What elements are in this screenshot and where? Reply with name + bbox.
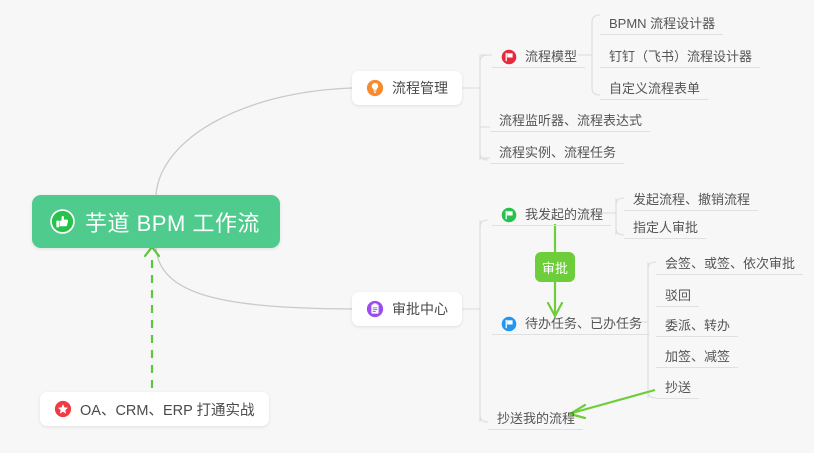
node-label: 发起流程、撤销流程 — [633, 189, 750, 208]
bracket-model-corner-bottom — [592, 88, 600, 95]
flag-icon-green — [501, 207, 517, 223]
branch-process-management[interactable]: 流程管理 — [352, 71, 462, 105]
node-label: 加签、减签 — [665, 346, 730, 365]
mindmap-canvas: 芋道 BPM 工作流 流程管理 流程模型 BPMN 流程设计器 钉钉（飞书）流程 — [0, 0, 814, 453]
node-start-cancel[interactable]: 发起流程、撤销流程 — [624, 185, 758, 211]
node-cc-to-me[interactable]: 抄送我的流程 — [488, 404, 583, 430]
node-my-initiated[interactable]: 我发起的流程 — [492, 200, 611, 226]
approval-badge[interactable]: 审批 — [535, 252, 575, 282]
star-icon — [54, 400, 72, 418]
node-label: 待办任务、已办任务 — [525, 313, 642, 332]
node-label: 流程监听器、流程表达式 — [499, 110, 642, 129]
node-dingtalk-feishu-designer[interactable]: 钉钉（飞书）流程设计器 — [600, 42, 760, 68]
link-root-to-process-management — [156, 88, 352, 195]
bracket-pm-corner-bottom — [480, 153, 488, 160]
node-label: 流程实例、流程任务 — [499, 142, 616, 161]
node-assignee-approval[interactable]: 指定人审批 — [624, 213, 706, 239]
bracket-pm-corner-top — [480, 55, 488, 62]
node-listener-expression[interactable]: 流程监听器、流程表达式 — [490, 106, 650, 132]
link-root-to-approval-center — [156, 248, 352, 309]
flag-icon-blue — [501, 316, 517, 332]
node-add-remove-sign[interactable]: 加签、减签 — [656, 342, 738, 368]
clipboard-icon — [366, 300, 384, 318]
node-process-model[interactable]: 流程模型 — [492, 42, 585, 68]
node-label: 委派、转办 — [665, 315, 730, 334]
branch-approval-center[interactable]: 审批中心 — [352, 292, 462, 326]
approval-badge-label: 审批 — [542, 258, 568, 277]
bracket-init-corner-bottom — [616, 228, 624, 235]
thumbs-up-icon — [50, 209, 75, 234]
root-label: 芋道 BPM 工作流 — [85, 206, 260, 238]
bracket-todo-corner-top — [648, 262, 656, 269]
branch-label: 审批中心 — [392, 299, 448, 319]
node-cc[interactable]: 抄送 — [656, 373, 699, 399]
annotation-dashed-arrow — [145, 247, 159, 388]
root-node[interactable]: 芋道 BPM 工作流 — [32, 195, 280, 248]
node-label: 指定人审批 — [633, 217, 698, 236]
node-label: BPMN 流程设计器 — [609, 13, 715, 32]
bracket-init-corner-top — [616, 198, 624, 205]
node-custom-process-form[interactable]: 自定义流程表单 — [600, 74, 708, 100]
footnote-label: OA、CRM、ERP 打通实战 — [80, 399, 255, 420]
node-delegate-transfer[interactable]: 委派、转办 — [656, 311, 738, 337]
lightbulb-icon — [366, 79, 384, 97]
node-label: 我发起的流程 — [525, 204, 603, 223]
node-label: 抄送 — [665, 377, 691, 396]
bracket-todo-corner-bottom — [648, 391, 656, 398]
node-label: 抄送我的流程 — [497, 408, 575, 427]
bracket-ac-corner-bottom — [480, 415, 488, 422]
node-bpmn-designer[interactable]: BPMN 流程设计器 — [600, 9, 723, 35]
bracket-model-corner-top — [592, 15, 600, 22]
footnote-node[interactable]: OA、CRM、ERP 打通实战 — [40, 392, 269, 426]
node-label: 会签、或签、依次审批 — [665, 253, 795, 272]
node-label: 自定义流程表单 — [609, 78, 700, 97]
node-countersign[interactable]: 会签、或签、依次审批 — [656, 249, 803, 275]
flag-icon-red — [501, 49, 517, 65]
node-label: 钉钉（飞书）流程设计器 — [609, 46, 752, 65]
node-todo-done[interactable]: 待办任务、已办任务 — [492, 309, 650, 335]
node-label: 驳回 — [665, 285, 691, 304]
node-reject[interactable]: 驳回 — [656, 281, 699, 307]
bracket-ac-corner-top — [480, 220, 488, 227]
node-label: 流程模型 — [525, 46, 577, 65]
node-instance-task[interactable]: 流程实例、流程任务 — [490, 138, 624, 164]
branch-label: 流程管理 — [392, 78, 448, 98]
